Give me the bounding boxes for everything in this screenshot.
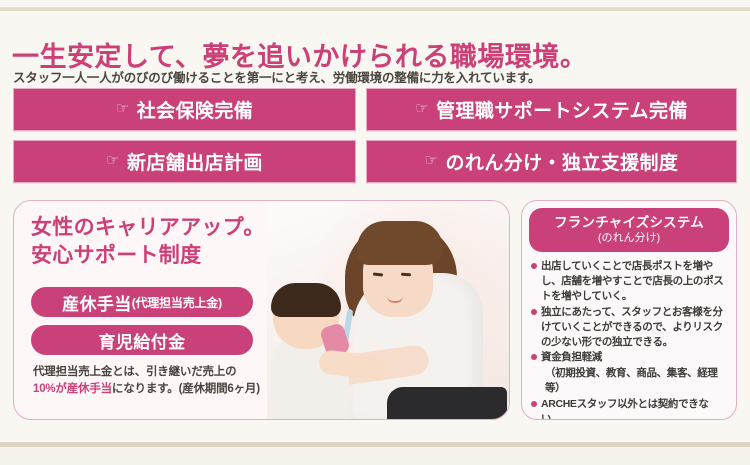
pill-childcare-benefit[interactable]: 育児給付金 [31,325,253,355]
pointing-hand-icon: ☞ [106,153,120,168]
career-card-title: 女性のキャリアアップ。 安心サポート制度 [31,214,265,269]
bottom-divider-band [0,442,750,465]
photo-mother-leg [387,387,507,419]
list-item: ARCHEスタッフ以外とは契約できない。 [531,397,727,420]
benefit-box-label: 社会保険完備 [137,96,253,123]
list-item: 資金負担軽減 [531,350,727,365]
benefit-box-independence-support[interactable]: ☞ のれん分け・独立支援制度 [366,140,737,183]
benefit-box-label: のれん分け・独立支援制度 [446,148,679,175]
benefit-box-manager-support[interactable]: ☞ 管理職サポートシステム完備 [366,88,737,131]
career-support-card: 女性のキャリアアップ。 安心サポート制度 産休手当 (代理担当売上金) 育児給付… [13,200,510,420]
benefit-box-label: 新店舗出店計画 [127,148,263,175]
cards-row: 女性のキャリアアップ。 安心サポート制度 産休手当 (代理担当売上金) 育児給付… [13,200,737,422]
list-item: 独立にあたって、スタッフとお客様を分けていくことができるので、よりリスクの少ない… [531,305,727,350]
franchise-system-card: フランチャイズシステム (のれん分け) 出店していくことで店長ポストを増やし、店… [521,200,737,420]
pointing-hand-icon: ☞ [116,101,130,116]
pill-label-main: 育児給付金 [99,328,186,353]
franchise-card-title: フランチャイズシステム [554,215,704,231]
note-line-2-tail: になります。(産休期間6ヶ月) [112,383,260,395]
career-card-title-line1: 女性のキャリアアップ。 [31,216,265,239]
career-card-note: 代理担当売上金とは、引き継いだ売上の 10%が産休手当になります。(産休期間6ヶ… [33,364,268,399]
page-subtitle: スタッフ一人一人がのびのび働けることを第一にと考え、労働環境の整備に力を入れてい… [13,67,540,86]
top-divider [0,7,750,11]
page-root: 一生安定して、夢を追いかけられる職場環境。 スタッフ一人一人がのびのび働けること… [0,0,750,465]
pill-label-sub: (代理担当売上金) [132,294,222,311]
photo-mother-eye-right [401,273,411,277]
note-line-1: 代理担当売上金とは、引き継いだ売上の [33,366,236,378]
mother-and-child-photo [267,201,509,419]
franchise-bullet-list: 出店していくことで店長ポストを増やし、店舗を増やすことで店長の上のポストを増やし… [522,259,736,420]
career-card-title-line2: 安心サポート制度 [31,244,201,267]
franchise-card-header: フランチャイズシステム (のれん分け) [529,208,729,252]
list-item-detail: （初期投資、教育、商品、集客、経理等） [531,366,727,396]
pointing-hand-icon: ☞ [425,153,439,168]
pill-maternity-allowance[interactable]: 産休手当 (代理担当売上金) [31,287,253,317]
benefit-box-grid: ☞ 社会保険完備 ☞ 管理職サポートシステム完備 ☞ 新店舗出店計画 ☞ のれん… [13,88,737,183]
benefit-box-new-store-plan[interactable]: ☞ 新店舗出店計画 [13,140,356,183]
benefit-box-social-insurance[interactable]: ☞ 社会保険完備 [13,88,356,131]
franchise-card-subtitle: (のれん分け) [598,232,660,245]
pill-label-main: 産休手当 [62,290,132,315]
benefit-box-label: 管理職サポートシステム完備 [436,96,688,123]
pointing-hand-icon: ☞ [415,101,429,116]
note-highlight: 10%が産休手当 [33,383,112,395]
photo-mother-hair-front [357,221,443,265]
list-item: 出店していくことで店長ポストを増やし、店舗を増やすことで店長の上のポストを増やし… [531,259,727,304]
photo-child-hair [271,283,341,317]
